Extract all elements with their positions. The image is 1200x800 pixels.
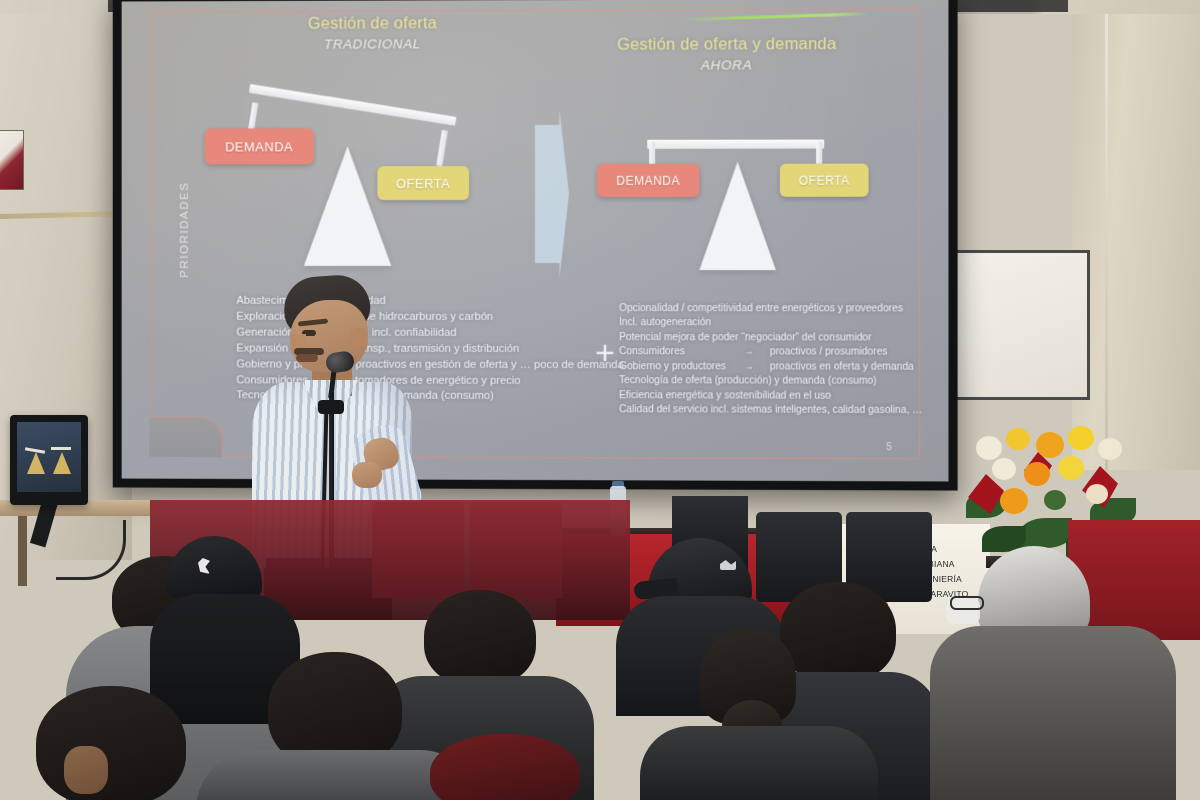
leaf	[1020, 518, 1072, 548]
mini-scale-fulcrum-left	[27, 452, 45, 474]
scale-beam	[647, 140, 824, 149]
flower-white	[1098, 438, 1122, 460]
flower-white	[992, 458, 1016, 480]
tag-oferta-left: OFERTA	[377, 166, 469, 200]
bullet-item: Incl. autogeneración	[619, 317, 922, 332]
cable-bundle	[56, 520, 126, 580]
scale-hanger-right	[436, 130, 448, 166]
bullet-item: Tecnología de oferta (producción) y dema…	[619, 375, 922, 390]
tag-demanda-left: DEMANDA	[205, 128, 314, 164]
arrow-row-result: proactivos en oferta y demanda	[770, 360, 914, 375]
flower-white	[1086, 484, 1108, 504]
arrow-row-subject: Gobierno y productores	[619, 360, 744, 375]
balance-scale-traditional: DEMANDA OFERTA	[219, 78, 478, 278]
tag-demanda-right: DEMANDA	[597, 164, 699, 197]
audience-torso	[640, 726, 878, 800]
presenter-second-hand	[352, 462, 382, 488]
presenter-ear	[350, 328, 366, 348]
audience-head	[36, 686, 186, 800]
flower-orange	[1000, 488, 1028, 514]
bullet-item: Eficiencia energética y sostenibilidad e…	[619, 389, 922, 404]
right-panel-bullets: Opcionalidad / competitividad entre ener…	[619, 302, 922, 419]
mini-scale-fulcrum-right	[53, 452, 71, 474]
transition-arrow-icon	[535, 110, 569, 278]
flower-yellow	[1068, 426, 1094, 450]
preview-monitor	[10, 415, 88, 505]
audience-torso	[930, 626, 1176, 800]
right-panel-title-group: Gestión de oferta y demanda AHORA	[571, 35, 883, 73]
audience-head	[780, 582, 896, 682]
scale-hanger-left	[248, 102, 258, 130]
scale-fulcrum	[699, 162, 775, 270]
left-panel-subtitle: TRADICIONAL	[248, 36, 497, 52]
bullet-item: Opcionalidad / competitividad entre ener…	[619, 302, 922, 317]
wall-corner	[1105, 0, 1108, 470]
bullet-item: Potencial mejora de poder “negociador” d…	[619, 331, 922, 346]
arrow-row: Gobierno y productores → proactivos en o…	[619, 360, 922, 375]
auditorium-photo: Gestión de oferta TRADICIONAL Gestión de…	[0, 0, 1200, 800]
slide-corner-notch	[149, 417, 222, 457]
flower-orange	[1024, 462, 1050, 486]
whiteboard	[940, 250, 1090, 400]
arrow-row: Consumidores → proactivos / prosumidores	[619, 346, 922, 361]
arrow-row-result: proactivos / prosumidores	[770, 346, 888, 361]
chair	[372, 502, 464, 598]
prioridades-label: PRIORIDADES	[179, 181, 191, 277]
side-table-leg	[18, 516, 27, 586]
presenter-mouth	[296, 354, 318, 362]
eyeglasses-icon	[950, 596, 984, 610]
flower-orange	[1036, 432, 1064, 458]
flower-yellow	[1006, 428, 1030, 450]
balance-scale-now: DEMANDA OFERTA	[609, 123, 860, 294]
preview-monitor-screen	[17, 422, 81, 492]
flower-white	[976, 436, 1002, 460]
right-panel-title: Gestión de oferta y demanda	[617, 35, 836, 54]
mini-scale-beam-right	[51, 447, 71, 450]
slide-page-number: 5	[886, 442, 892, 453]
left-panel-title: Gestión de oferta	[308, 14, 437, 32]
plus-icon: +	[595, 336, 615, 370]
tag-oferta-right: OFERTA	[780, 164, 869, 197]
flower-green	[1044, 490, 1066, 510]
microphone-clamp	[318, 400, 344, 414]
right-arrow-icon: →	[744, 346, 770, 361]
right-panel-subtitle: AHORA	[571, 57, 883, 73]
chair	[470, 502, 562, 598]
bullet-item: Calidad del servicio incl. sistemas inte…	[619, 404, 922, 419]
flower-yellow	[1058, 456, 1084, 480]
scale-beam	[249, 84, 457, 126]
scale-fulcrum	[304, 146, 391, 266]
audience-head	[424, 590, 536, 686]
right-wall	[1072, 0, 1200, 470]
left-panel-title-group: Gestión de oferta TRADICIONAL	[248, 14, 497, 52]
audience-neck	[64, 746, 108, 794]
slide-green-accent-line	[680, 12, 869, 21]
right-arrow-icon: →	[744, 360, 770, 375]
audience-head-red	[430, 734, 580, 800]
wall-plaque	[0, 130, 24, 190]
arrow-row-subject: Consumidores	[619, 346, 744, 361]
